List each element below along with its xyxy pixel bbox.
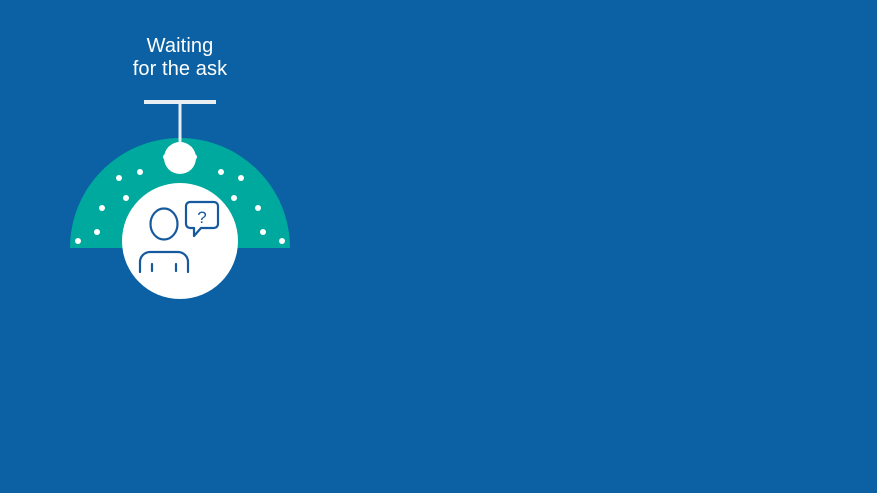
illustration-canvas: ? Waiting for the ask (0, 0, 877, 493)
dome-dot (99, 205, 105, 211)
dome-dot (231, 195, 237, 201)
dome-dot (238, 175, 244, 181)
page-title: Waiting for the ask (80, 35, 280, 81)
dome-dot (260, 229, 266, 235)
dome-dot (218, 169, 224, 175)
speech-bubble-question-glyph: ? (197, 208, 206, 227)
dome-dot (116, 175, 122, 181)
pendant-bulb-icon (164, 142, 196, 174)
avatar-disc (122, 183, 238, 299)
dome-dot (137, 169, 143, 175)
dome-dot (75, 238, 81, 244)
dome-dot (279, 238, 285, 244)
dome-dot (255, 205, 261, 211)
dome-dot (123, 195, 129, 201)
dome-dot (94, 229, 100, 235)
